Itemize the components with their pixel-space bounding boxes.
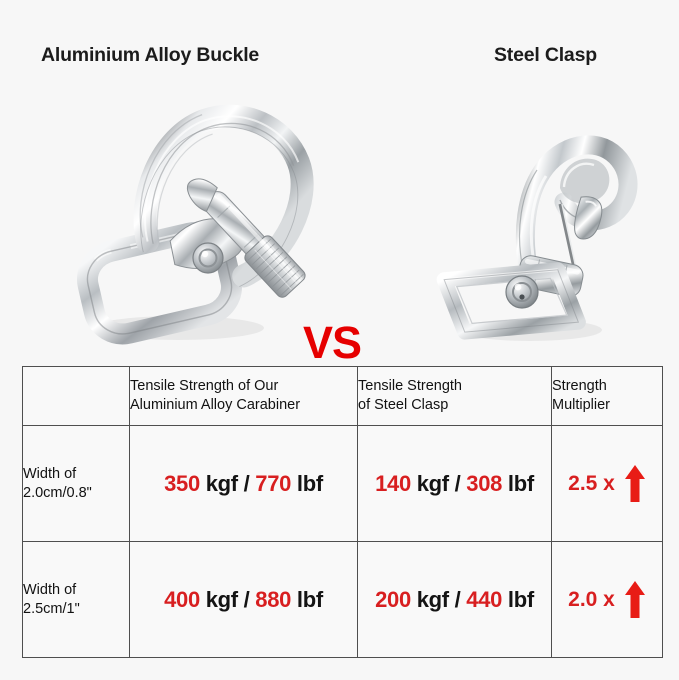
aluminium-carabiner-image	[60, 92, 340, 352]
strength-comparison-table: Tensile Strength of Our Aluminium Alloy …	[22, 366, 663, 658]
steel-lbf-value-row1: 308	[466, 471, 502, 496]
multiplier-value-row2: 2.0 x	[568, 588, 615, 612]
column-header-multiplier-line2: Multiplier	[552, 396, 662, 415]
column-header-multiplier-line1: Strength	[552, 377, 662, 396]
column-header-steel-line1: Tensile Strength	[358, 377, 551, 396]
title-steel-clasp: Steel Clasp	[494, 44, 597, 67]
steel-kgf-value-row1: 140	[375, 471, 411, 496]
steel-lbf-unit-row2: lbf	[508, 587, 534, 612]
row-spec-line1: Width of	[23, 581, 129, 600]
column-header-steel-line2: of Steel Clasp	[358, 396, 551, 415]
cell-aluminium-strength-row2: 400 kgf / 880 lbf	[130, 542, 358, 658]
row-spec-line2: 2.5cm/1"	[23, 600, 129, 619]
table-row: Width of 2.0cm/0.8" 350 kgf / 770 lbf 14…	[23, 426, 663, 542]
strength-comparison-table-wrapper: Tensile Strength of Our Aluminium Alloy …	[22, 366, 658, 658]
column-header-steel-strength: Tensile Strength of Steel Clasp	[358, 367, 552, 426]
steel-kgf-value-row2: 200	[375, 587, 411, 612]
aluminium-lbf-value-row1: 770	[255, 471, 291, 496]
steel-clasp-illustration	[410, 92, 670, 352]
aluminium-kgf-value-row2: 400	[164, 587, 200, 612]
cell-aluminium-strength-row1: 350 kgf / 770 lbf	[130, 426, 358, 542]
aluminium-kgf-unit-row2: kgf	[206, 587, 238, 612]
table-header-row: Tensile Strength of Our Aluminium Alloy …	[23, 367, 663, 426]
aluminium-kgf-unit-row1: kgf	[206, 471, 238, 496]
cell-steel-strength-row1: 140 kgf / 308 lbf	[358, 426, 552, 542]
product-titles: Aluminium Alloy Buckle Steel Clasp	[0, 44, 679, 78]
title-aluminium-alloy-buckle: Aluminium Alloy Buckle	[41, 44, 259, 67]
cell-multiplier-row1: 2.5 x	[552, 426, 663, 542]
column-header-aluminium-line1: Tensile Strength of Our	[130, 377, 357, 396]
steel-lbf-value-row2: 440	[466, 587, 502, 612]
table-header: Tensile Strength of Our Aluminium Alloy …	[23, 367, 663, 426]
steel-kgf-unit-row2: kgf	[417, 587, 449, 612]
row-spec-width-2-5cm: Width of 2.5cm/1"	[23, 542, 130, 658]
table-body: Width of 2.0cm/0.8" 350 kgf / 770 lbf 14…	[23, 426, 663, 658]
row-spec-width-2-0cm: Width of 2.0cm/0.8"	[23, 426, 130, 542]
arrow-up-icon	[624, 464, 646, 504]
column-header-aluminium-strength: Tensile Strength of Our Aluminium Alloy …	[130, 367, 358, 426]
steel-kgf-unit-row1: kgf	[417, 471, 449, 496]
aluminium-lbf-unit-row2: lbf	[297, 587, 323, 612]
aluminium-carabiner-illustration	[60, 92, 340, 352]
steel-lbf-unit-row1: lbf	[508, 471, 534, 496]
table-row: Width of 2.5cm/1" 400 kgf / 880 lbf 200 …	[23, 542, 663, 658]
vs-separator-label: VS	[303, 320, 361, 365]
column-header-aluminium-line2: Aluminium Alloy Carabiner	[130, 396, 357, 415]
row-spec-line1: Width of	[23, 465, 129, 484]
aluminium-lbf-value-row2: 880	[255, 587, 291, 612]
cell-steel-strength-row2: 200 kgf / 440 lbf	[358, 542, 552, 658]
arrow-up-icon	[624, 580, 646, 620]
aluminium-kgf-value-row1: 350	[164, 471, 200, 496]
column-header-spec	[23, 367, 130, 426]
row-spec-line2: 2.0cm/0.8"	[23, 484, 129, 503]
column-header-strength-multiplier: Strength Multiplier	[552, 367, 663, 426]
product-comparison-stage: VS	[0, 92, 679, 352]
cell-multiplier-row2: 2.0 x	[552, 542, 663, 658]
steel-clasp-image	[410, 92, 670, 352]
aluminium-lbf-unit-row1: lbf	[297, 471, 323, 496]
multiplier-value-row1: 2.5 x	[568, 472, 615, 496]
